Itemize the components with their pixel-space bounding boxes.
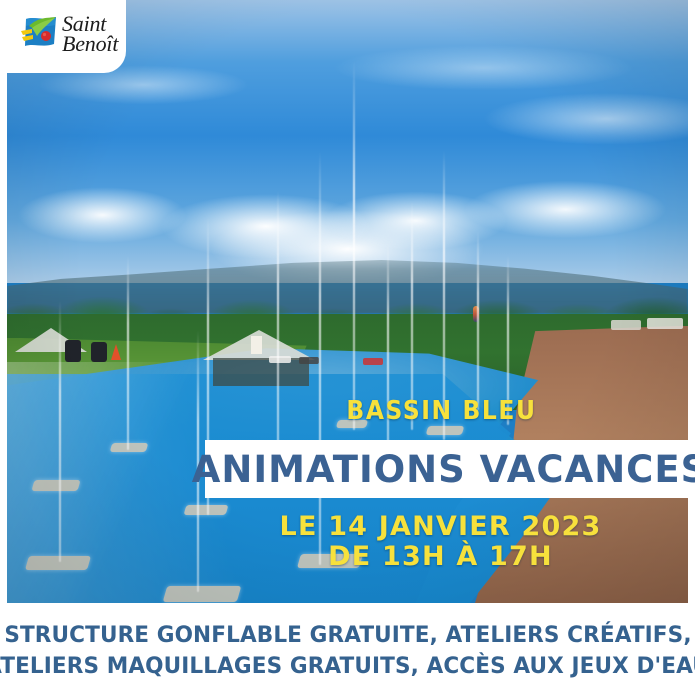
car-icon — [299, 357, 319, 364]
title-band: ANIMATIONS VACANCES — [205, 440, 695, 498]
jet-plate — [163, 586, 242, 602]
water-jet — [477, 230, 479, 410]
event-poster: Saint Benoît BASSIN BLEU ANIMATIONS VACA… — [0, 0, 695, 695]
event-time: DE 13H À 17H — [186, 542, 695, 572]
jet-plate — [426, 426, 465, 435]
saint-benoit-flag-icon — [20, 14, 60, 52]
car-icon — [647, 318, 683, 329]
event-date: LE 14 JANVIER 2023 — [186, 512, 695, 542]
logo-line-2: Benoît — [62, 34, 118, 54]
poster-title: ANIMATIONS VACANCES — [192, 448, 695, 491]
logo-wordmark: Saint Benoît — [62, 14, 118, 54]
event-datetime: LE 14 JANVIER 2023 DE 13H À 17H — [0, 512, 695, 572]
car-icon — [269, 356, 291, 363]
car-icon — [611, 320, 641, 330]
kicker-text: BASSIN BLEU — [346, 396, 536, 426]
water-jet — [319, 150, 321, 565]
car-icon — [363, 358, 383, 365]
activities-footer: STRUCTURE GONFLABLE GRATUITE, ATELIERS C… — [0, 606, 695, 695]
logo-panel: Saint Benoît — [0, 0, 126, 73]
activities-line-2: ATELIERS MAQUILLAGES GRATUITS, ACCÈS AUX… — [0, 651, 695, 681]
bin-icon — [91, 342, 107, 362]
activities-line-1: STRUCTURE GONFLABLE GRATUITE, ATELIERS C… — [4, 620, 691, 650]
water-jet — [353, 60, 355, 430]
jet-plate — [110, 443, 149, 452]
kicker-bassin-bleu: BASSIN BLEU — [0, 396, 695, 426]
jet-plate — [31, 480, 80, 491]
sign-icon — [251, 336, 262, 354]
bin-icon — [65, 340, 81, 362]
gazebo-post — [213, 358, 309, 386]
